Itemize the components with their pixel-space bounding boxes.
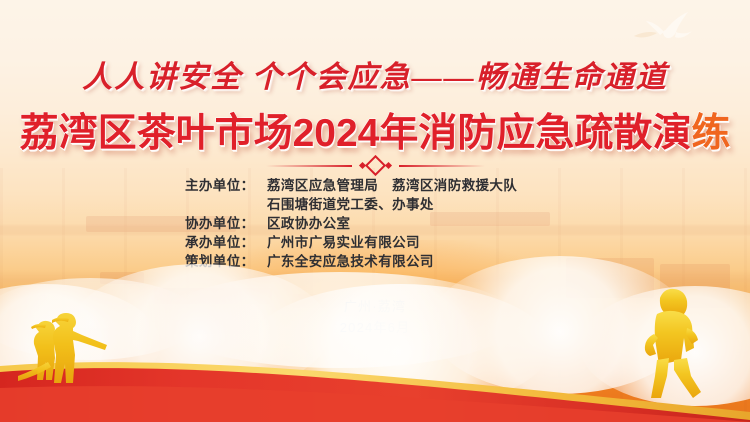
organizer-value: 区政协办公室 [267,214,565,233]
organizer-label: 承办单位： [185,233,267,252]
poster-slogan: 人人讲安全 个个会应急——畅通生命通道 [0,52,750,96]
divider-diamond [364,155,385,176]
place-date-block: 广州·荔湾 2024年6月 [0,296,750,338]
organizer-row: 主办单位： 荔湾区应急管理局 荔湾区消防救援大队 [185,176,565,195]
red-ribbon-icon [0,326,750,422]
divider-dot [384,162,391,169]
organizer-row: 策划单位： 广东全安应急技术有限公司 [185,252,565,271]
organizer-label: 策划单位： [185,252,267,271]
page-title-main: 荔湾区茶叶市场2024年消防应急疏散演 [20,112,692,155]
divider-gem [360,158,391,173]
poster-canvas: 人人讲安全 个个会应急——畅通生命通道 荔湾区茶叶市场2024年消防应急疏散演练… [0,0,750,422]
divider-line-left [266,165,352,167]
divider-line-right [399,165,485,167]
organizer-value: 广东全安应急技术有限公司 [267,252,565,271]
organizer-row: 协办单位： 区政协办公室 [185,214,565,233]
organizer-row: 主办单位： 石围塘街道党工委、办事处 [185,195,565,214]
organizer-label: 主办单位： [185,176,267,195]
event-date: 2024年6月 [0,317,750,338]
page-title-highlight: 练 [691,112,730,155]
shop-sign [100,272,144,284]
organizer-row: 承办单位： 广州市广易实业有限公司 [185,233,565,252]
organizer-value: 荔湾区应急管理局 荔湾区消防救援大队 [267,176,565,195]
organizer-label: 协办单位： [185,214,267,233]
page-title: 荔湾区茶叶市场2024年消防应急疏散演练 [0,102,750,158]
organizer-list: 主办单位： 荔湾区应急管理局 荔湾区消防救援大队 主办单位： 石围塘街道党工委、… [0,176,750,271]
organizer-value: 广州市广易实业有限公司 [267,233,565,252]
organizer-value: 石围塘街道党工委、办事处 [267,195,565,214]
dove-icon [626,6,702,50]
divider-diamond-icon [0,158,750,173]
event-place: 广州·荔湾 [0,296,750,317]
